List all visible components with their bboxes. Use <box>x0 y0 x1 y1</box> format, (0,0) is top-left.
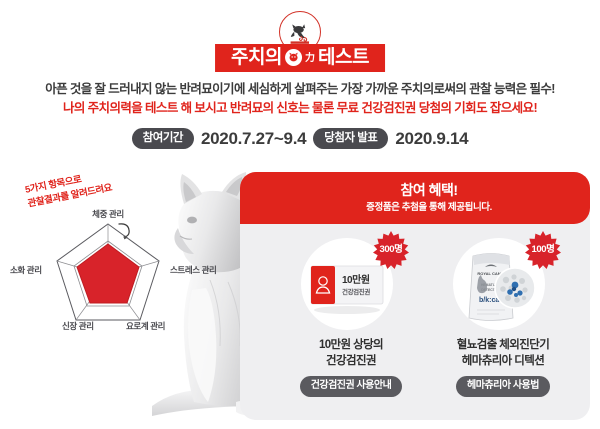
radar-chart: 체중 관리 스트레스 관리 요로계 관리 신장 관리 소화 관리 <box>52 220 172 324</box>
prize-count-badge: 100명 <box>523 230 563 270</box>
prize-caption: 혈뇨검출 체외진단기 헤마츄리아 디텍션 <box>457 338 549 369</box>
title-banner: 주치의 力 테스트 <box>215 44 385 72</box>
announcement-label: 당첨자 발표 <box>313 128 388 149</box>
description: 아픈 것을 잘 드러내지 않는 반려묘이기에 세심하게 살펴주는 가장 가까운 … <box>0 80 600 119</box>
title-prefix: 주치의 <box>231 48 282 67</box>
prize-caption: 10만원 상당의 건강검진권 <box>319 338 383 369</box>
radar-series-observation <box>77 244 139 303</box>
title-suffix: 테스트 <box>318 48 369 67</box>
announcement-value: 2020.9.14 <box>395 130 468 147</box>
benefits-panel: 참여 혜택! 증정품은 추첨을 통해 제공됩니다. <box>240 172 590 420</box>
prize-caption-line-1: 혈뇨검출 체외진단기 <box>457 338 549 354</box>
benefits-header: 참여 혜택! 증정품은 추첨을 통해 제공됩니다. <box>240 172 590 224</box>
voucher-usage-guide-button[interactable]: 건강검진권 사용안내 <box>300 376 403 397</box>
handwritten-note: 5가지 항목으로 관찰결과를 알려드려요 <box>24 168 114 212</box>
prize-caption-line-1: 10만원 상당의 <box>319 338 383 354</box>
radar-label-right: 스트레스 관리 <box>170 264 216 276</box>
radar-label-bottom-right: 요로계 관리 <box>126 320 165 332</box>
title-superscript: 力 <box>305 49 315 64</box>
prize-caption-line-2: 헤마츄리아 디텍션 <box>457 354 549 370</box>
benefits-subtitle: 증정품은 추첨을 통해 제공됩니다. <box>366 202 492 213</box>
radar-label-bottom-left: 신장 관리 <box>62 320 94 332</box>
description-line-2: 나의 주치의력을 테스트 해 보시고 반려묘의 신호는 물론 무료 건강검진권 … <box>0 99 600 118</box>
prize-list: 10만원 건강검진권 300명 10만원 상당의 <box>240 224 590 397</box>
prize-media: ROYAL CANIN HEMATURIA DETECTION b/k:cat <box>453 234 553 334</box>
svg-text:건강검진권: 건강검진권 <box>342 287 370 296</box>
prize-caption-line-2: 건강검진권 <box>319 354 383 370</box>
svg-text:10만원: 10만원 <box>342 273 370 286</box>
cat-circle-logo-icon <box>285 17 315 47</box>
prize-media: 10만원 건강검진권 300명 <box>301 234 401 334</box>
radar-label-left: 소화 관리 <box>10 264 42 276</box>
cat-face-icon <box>285 49 302 66</box>
prize-item-hematuria: ROYAL CANIN HEMATURIA DETECTION b/k:cat <box>432 234 574 397</box>
prize-item-voucher: 10만원 건강검진권 300명 10만원 상당의 <box>280 234 422 397</box>
period-value: 2020.7.27~9.4 <box>201 130 306 147</box>
prize-count-badge: 300명 <box>371 230 411 270</box>
radar-label-top: 체중 관리 <box>92 208 124 220</box>
prize-count-label: 100명 <box>532 245 555 255</box>
hematuria-usage-guide-button[interactable]: 헤마츄리아 사용법 <box>456 376 550 397</box>
promo-page: 주치의 力 테스트 아픈 것을 잘 드러내지 않는 반려묘이기에 세심하게 살펴… <box>0 0 600 429</box>
description-line-1: 아픈 것을 잘 드러내지 않는 반려묘이기에 세심하게 살펴주는 가장 가까운 … <box>0 80 600 99</box>
benefits-title: 참여 혜택! <box>400 182 457 199</box>
prize-count-label: 300명 <box>380 245 403 255</box>
schedule-row: 참여기간 2020.7.27~9.4 당첨자 발표 2020.9.14 <box>0 128 600 149</box>
period-label: 참여기간 <box>132 128 194 149</box>
